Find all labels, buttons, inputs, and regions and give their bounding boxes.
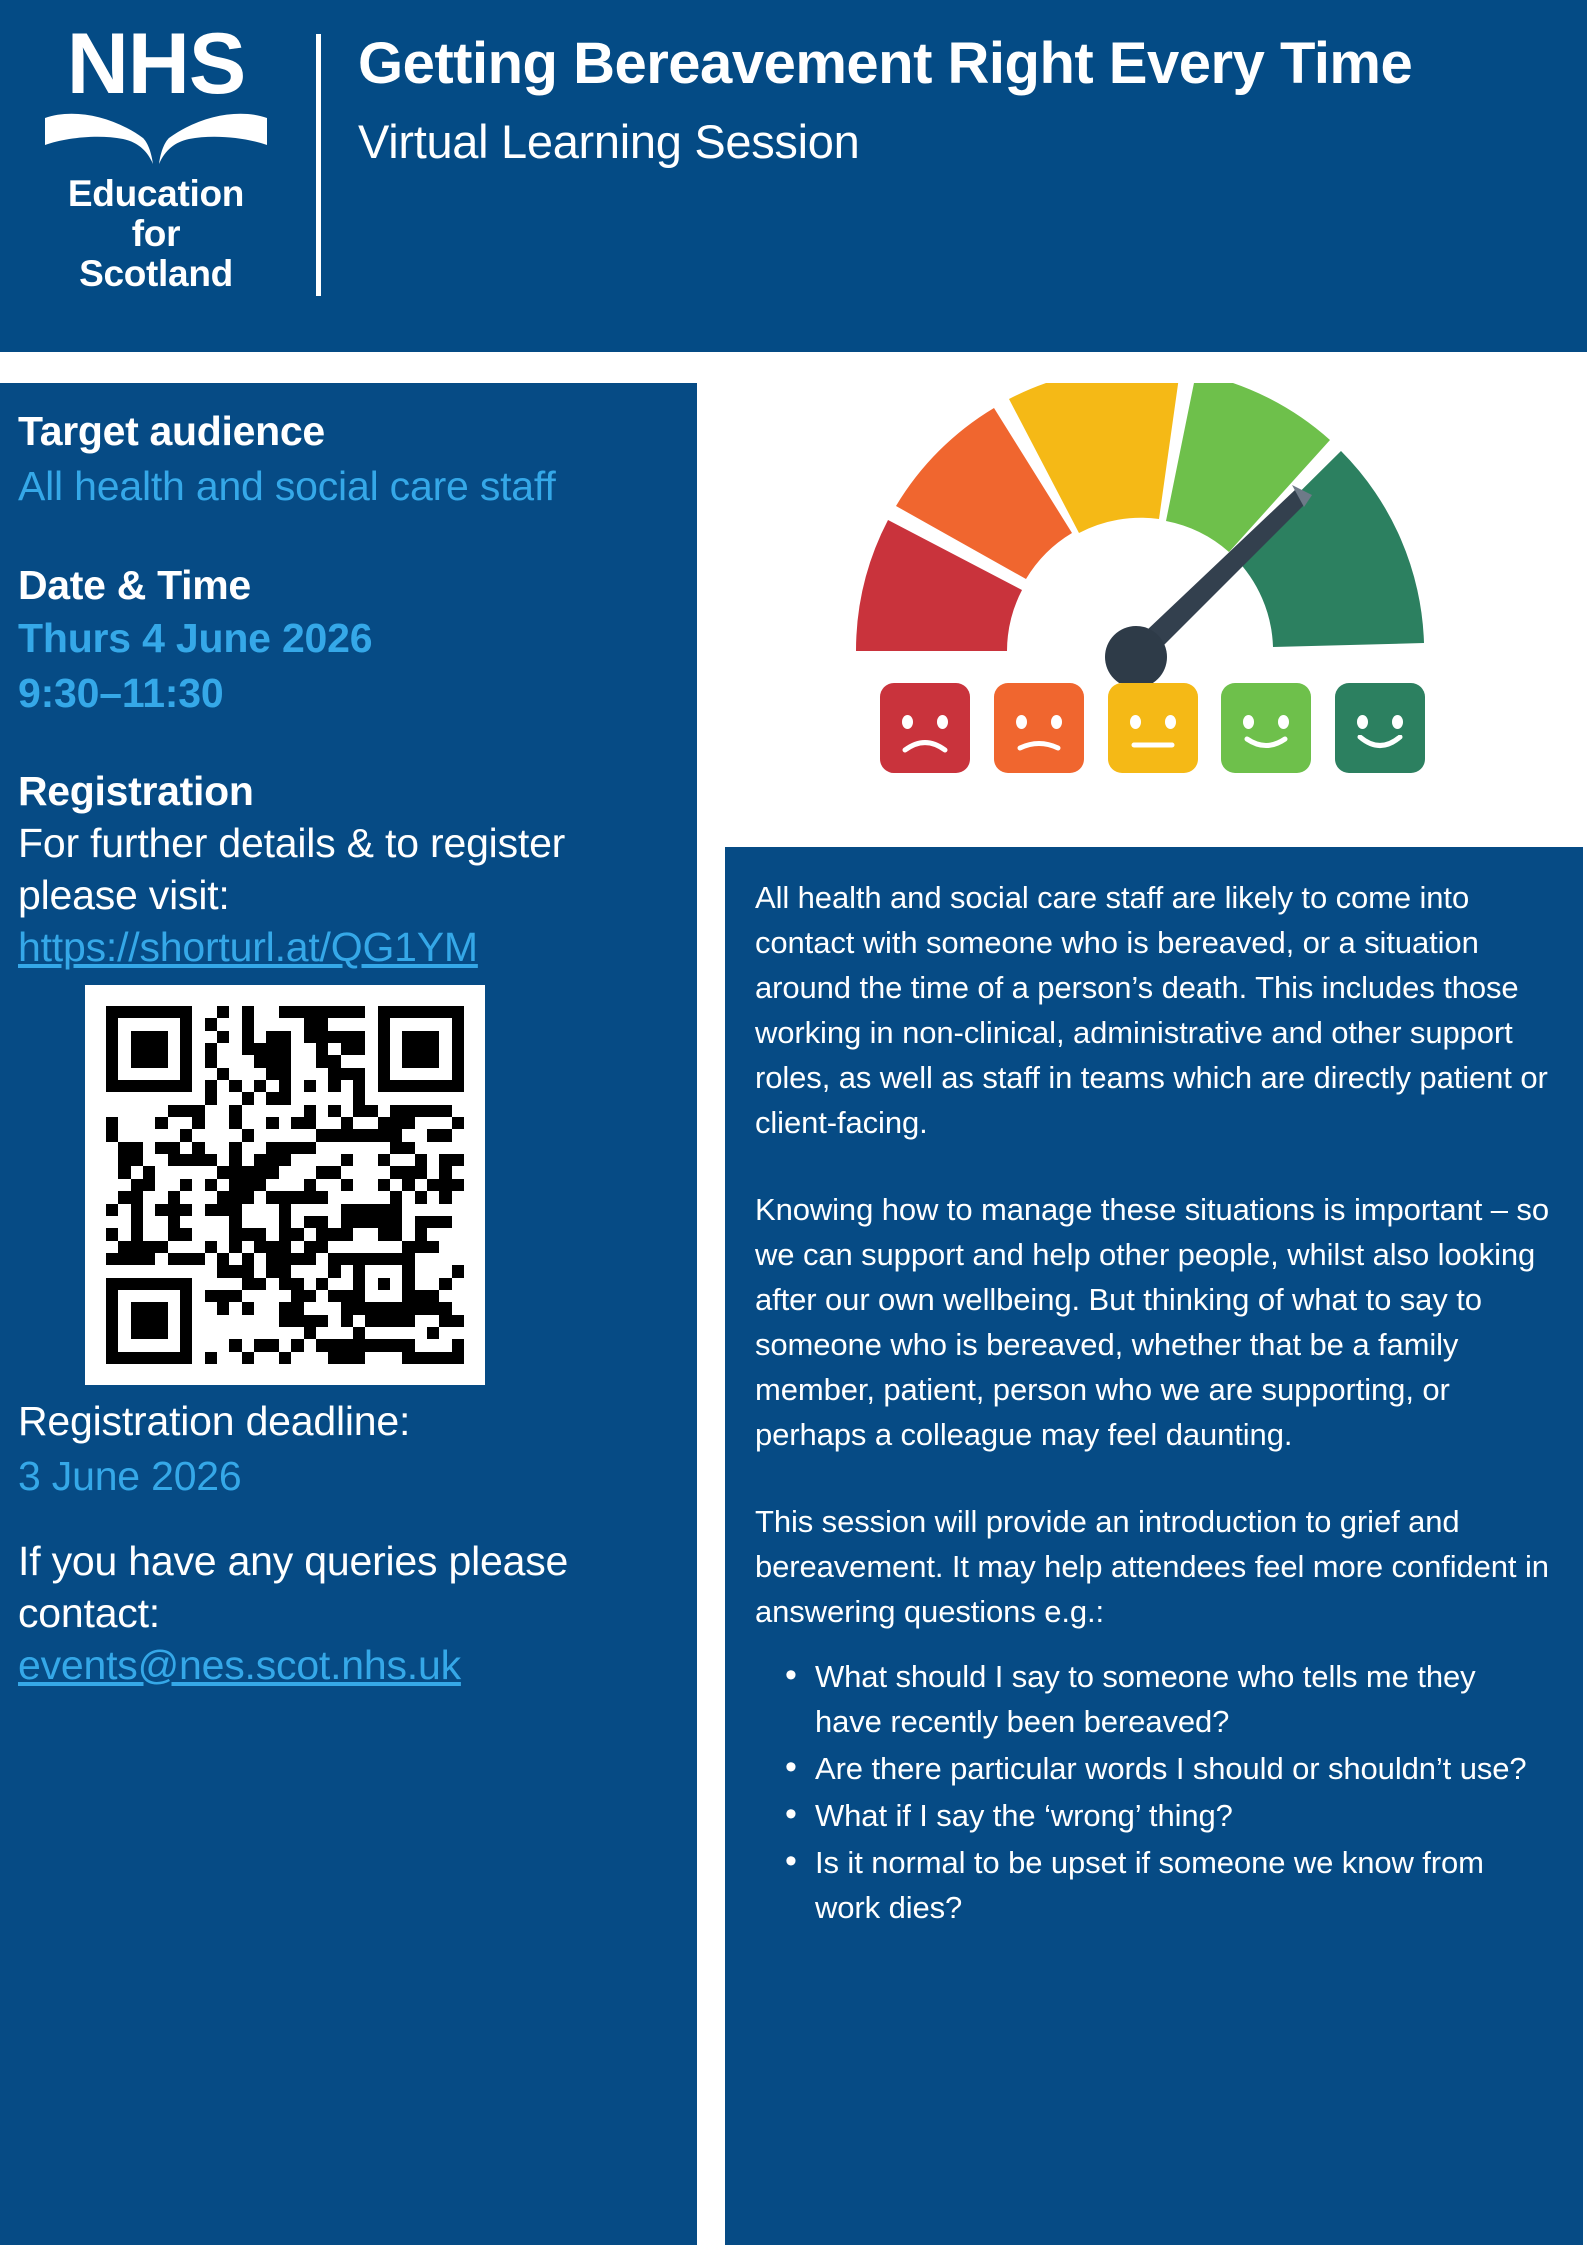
face-sad-icon	[880, 683, 970, 773]
spacer	[18, 1385, 679, 1395]
satisfaction-gauge-graphic	[725, 383, 1583, 833]
list-item: Are there particular words I should or s…	[785, 1746, 1549, 1791]
emoji-rating-row	[880, 683, 1425, 803]
nhs-logo-line-scotland: Scotland	[30, 254, 282, 294]
qr-code-matrix	[106, 1006, 464, 1364]
registration-instructions: For further details & to register please…	[18, 817, 679, 921]
face-happy-icon	[1221, 683, 1311, 773]
poster-root: NHS Education for Scotland Getting Berea…	[0, 0, 1587, 2245]
list-item: What should I say to someone who tells m…	[785, 1654, 1549, 1744]
spacer	[18, 1505, 679, 1535]
header-text-block: Getting Bereavement Right Every Time Vir…	[358, 28, 1538, 170]
description-paragraph: All health and social care staff are lik…	[755, 875, 1549, 1145]
list-item: Is it normal to be upset if someone we k…	[785, 1840, 1549, 1930]
spacer	[18, 721, 679, 765]
face-neutral-icon	[1108, 683, 1198, 773]
spacer	[18, 515, 679, 559]
face-slightly-sad-icon	[994, 683, 1084, 773]
description-panel: All health and social care staff are lik…	[725, 847, 1583, 2245]
queries-text: If you have any queries please contact:	[18, 1535, 679, 1639]
list-item: What if I say the ‘wrong’ thing?	[785, 1793, 1549, 1838]
nhs-logo-line-education: Education	[30, 174, 282, 214]
target-audience-heading: Target audience	[18, 405, 679, 457]
poster-header: NHS Education for Scotland Getting Berea…	[0, 0, 1587, 352]
target-audience-value: All health and social care staff	[18, 457, 679, 515]
example-questions-list: What should I say to someone who tells m…	[755, 1654, 1549, 1930]
contact-email-link[interactable]: events@nes.scot.nhs.uk	[18, 1639, 461, 1691]
face-very-happy-icon	[1335, 683, 1425, 773]
description-paragraph: Knowing how to manage these situations i…	[755, 1187, 1549, 1457]
date-time-heading: Date & Time	[18, 559, 679, 611]
nhs-education-for-scotland-logo: NHS Education for Scotland	[30, 18, 282, 318]
header-vertical-divider	[316, 34, 321, 296]
gauge-dial-icon	[820, 383, 1460, 683]
registration-deadline-label: Registration deadline:	[18, 1395, 679, 1447]
date-value: Thurs 4 June 2026	[18, 611, 679, 666]
details-sidebar: Target audience All health and social ca…	[0, 383, 697, 2245]
poster-title: Getting Bereavement Right Every Time	[358, 28, 1538, 100]
registration-link[interactable]: https://shorturl.at/QG1YM	[18, 921, 478, 973]
registration-qr-code[interactable]	[85, 985, 485, 1385]
time-value: 9:30–11:30	[18, 666, 679, 721]
registration-deadline-value: 3 June 2026	[18, 1447, 679, 1505]
description-paragraph: This session will provide an introductio…	[755, 1499, 1549, 1634]
nhs-book-swoosh-icon	[43, 112, 269, 170]
nhs-wordmark: NHS	[30, 18, 282, 110]
poster-subtitle: Virtual Learning Session	[358, 114, 1538, 170]
registration-heading: Registration	[18, 765, 679, 817]
nhs-logo-line-for: for	[30, 214, 282, 254]
